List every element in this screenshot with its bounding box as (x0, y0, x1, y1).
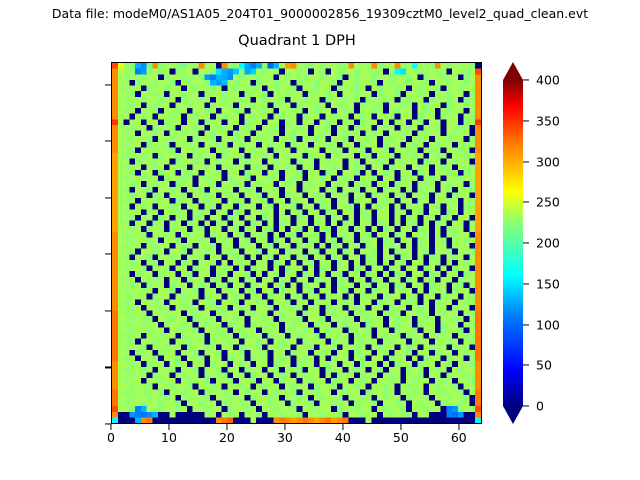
data-file-label: Data file: modeM0/AS1A05_204T01_90000028… (0, 6, 640, 21)
colorbar-tick-label: 300 (536, 154, 560, 169)
colorbar-tick-mark (523, 120, 529, 121)
x-tick-mark (342, 424, 343, 430)
x-tick-label: 10 (161, 430, 177, 445)
x-tick-mark (284, 424, 285, 430)
x-tick-mark (110, 424, 111, 430)
colorbar-gradient (503, 80, 523, 406)
colorbar-tick-label: 350 (536, 113, 560, 128)
colorbar-tick-mark (523, 405, 529, 406)
x-tick-mark (400, 424, 401, 430)
colorbar-tick-mark (523, 161, 529, 162)
colorbar[interactable] (503, 62, 523, 424)
matplotlib-figure: Data file: modeM0/AS1A05_204T01_90000028… (0, 0, 640, 480)
x-tick-label: 30 (277, 430, 293, 445)
colorbar-tick-label: 250 (536, 195, 560, 210)
colorbar-tick-mark (523, 283, 529, 284)
x-tick-label: 40 (335, 430, 351, 445)
x-tick-label: 20 (219, 430, 235, 445)
x-tick-label: 50 (393, 430, 409, 445)
x-tick-label: 0 (107, 430, 115, 445)
dph-heatmap-image[interactable] (112, 63, 481, 423)
colorbar-tick-mark (523, 79, 529, 80)
y-tick-mark (105, 141, 111, 142)
colorbar-tick-label: 200 (536, 236, 560, 251)
colorbar-tick-label: 50 (536, 358, 552, 373)
colorbar-tick-mark (523, 242, 529, 243)
x-tick-label: 60 (451, 430, 467, 445)
colorbar-tick-label: 150 (536, 276, 560, 291)
y-tick-mark (105, 367, 111, 368)
colorbar-tick-label: 100 (536, 317, 560, 332)
colorbar-extend-min-arrow-icon (503, 406, 523, 424)
y-tick-mark (105, 310, 111, 311)
colorbar-tick-label: 0 (536, 399, 544, 414)
x-tick-mark (168, 424, 169, 430)
colorbar-tick-mark (523, 324, 529, 325)
y-tick-mark (105, 197, 111, 198)
y-tick-mark (105, 84, 111, 85)
y-tick-mark (105, 254, 111, 255)
x-tick-mark (226, 424, 227, 430)
colorbar-tick-mark (523, 365, 529, 366)
page-title: Quadrant 1 DPH (111, 33, 483, 49)
colorbar-extend-max-arrow-icon (503, 62, 523, 80)
colorbar-tick-label: 400 (536, 73, 560, 88)
x-tick-mark (458, 424, 459, 430)
heatmap-axes[interactable] (111, 62, 482, 424)
colorbar-body[interactable] (503, 80, 523, 406)
colorbar-tick-mark (523, 202, 529, 203)
